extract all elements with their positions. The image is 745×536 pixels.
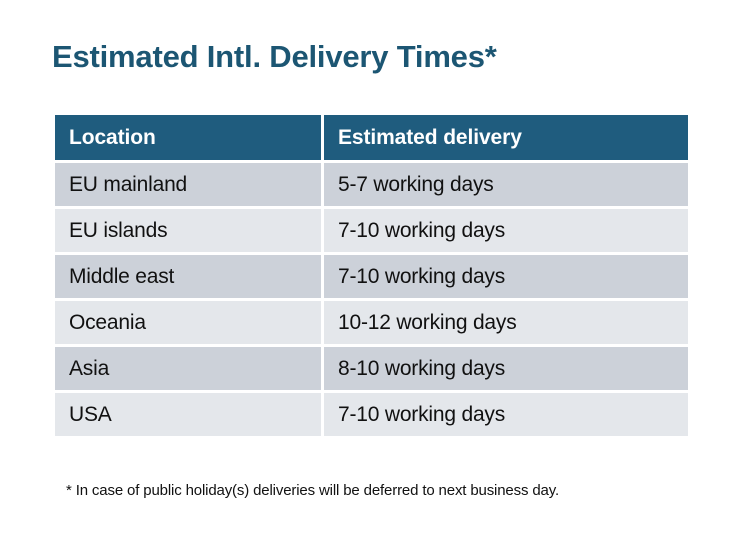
cell-delivery: 7-10 working days (324, 209, 688, 252)
cell-location: EU islands (55, 209, 321, 252)
cell-location: Middle east (55, 255, 321, 298)
cell-location: USA (55, 393, 321, 436)
cell-delivery: 10-12 working days (324, 301, 688, 344)
cell-delivery: 7-10 working days (324, 255, 688, 298)
table-row: EU mainland 5-7 working days (55, 163, 688, 206)
table-row: Oceania 10-12 working days (55, 301, 688, 344)
cell-delivery: 7-10 working days (324, 393, 688, 436)
cell-delivery: 5-7 working days (324, 163, 688, 206)
footnote: * In case of public holiday(s) deliverie… (66, 482, 559, 499)
cell-location: Asia (55, 347, 321, 390)
cell-delivery: 8-10 working days (324, 347, 688, 390)
table-row: USA 7-10 working days (55, 393, 688, 436)
cell-location: EU mainland (55, 163, 321, 206)
cell-location: Oceania (55, 301, 321, 344)
column-header-estimated-delivery: Estimated delivery (324, 115, 688, 160)
table-header: Location Estimated delivery (55, 115, 688, 160)
table-row: Middle east 7-10 working days (55, 255, 688, 298)
table-body: EU mainland 5-7 working days EU islands … (55, 163, 688, 436)
table-row: EU islands 7-10 working days (55, 209, 688, 252)
table-header-row: Location Estimated delivery (55, 115, 688, 160)
table-row: Asia 8-10 working days (55, 347, 688, 390)
delivery-times-table: Location Estimated delivery EU mainland … (52, 112, 691, 439)
page-title: Estimated Intl. Delivery Times* (52, 38, 497, 76)
column-header-location: Location (55, 115, 321, 160)
delivery-times-page: Estimated Intl. Delivery Times* Location… (0, 0, 745, 536)
